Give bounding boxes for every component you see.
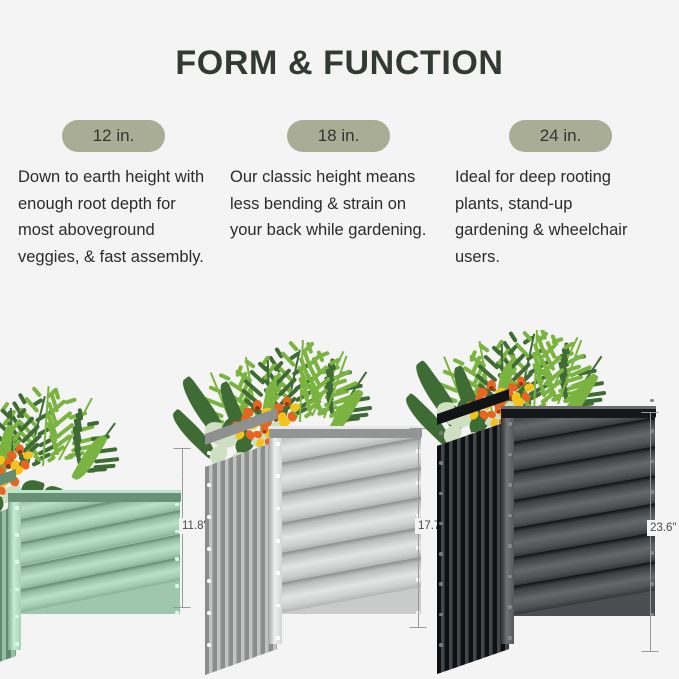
rivet [15, 533, 19, 537]
planter-corner-post [501, 414, 514, 644]
rivet [439, 492, 443, 496]
planter-side-rim [205, 408, 277, 445]
description-18in: Our classic height means less bending & … [230, 164, 430, 244]
rivet [207, 515, 211, 519]
rivet [207, 547, 211, 551]
rivet [207, 579, 211, 583]
rivet [508, 605, 512, 609]
planter-side-rim [437, 389, 509, 425]
rivet [439, 431, 443, 435]
product-scene: 11.8" tall 17.7" tall 23.6" tall [0, 330, 679, 679]
rivet [15, 560, 19, 564]
rivet [439, 461, 443, 465]
rivet [508, 514, 512, 518]
rivet [439, 522, 443, 526]
product-infographic: FORM & FUNCTION 12 in. 18 in. 24 in. Dow… [0, 0, 679, 679]
dimension-callout-24in: 23.6" tall [622, 412, 678, 652]
rivet [15, 615, 19, 619]
rivet [175, 611, 179, 615]
rivet [207, 483, 211, 487]
rivet [15, 506, 19, 510]
rivet [276, 636, 280, 640]
rivet [207, 643, 211, 647]
dimension-label-24in: 23.6" tall [647, 520, 679, 536]
rivet [439, 643, 443, 647]
rivet [15, 588, 19, 592]
page-title: FORM & FUNCTION [0, 44, 679, 83]
description-12in: Down to earth height with enough root de… [18, 164, 208, 270]
rivet [508, 483, 512, 487]
rivet [439, 552, 443, 556]
rivet [207, 611, 211, 615]
rivet [276, 442, 280, 446]
rivet [207, 451, 211, 455]
rivet [276, 539, 280, 543]
rivet [508, 636, 512, 640]
size-badge-18in: 18 in. [287, 120, 390, 152]
rivet [276, 604, 280, 608]
rivet [508, 453, 512, 457]
rivet [439, 613, 443, 617]
rivet [650, 399, 654, 403]
size-badge-row: 12 in. 18 in. 24 in. [0, 120, 679, 154]
charcoal-planter [437, 330, 652, 675]
rivet [276, 474, 280, 478]
size-badge-12in: 12 in. [62, 120, 165, 152]
size-badge-24in: 24 in. [509, 120, 612, 152]
rivet [439, 582, 443, 586]
rivet [416, 417, 420, 421]
rivet [508, 422, 512, 426]
rivet [276, 571, 280, 575]
planter-corner-post [8, 498, 21, 650]
rivet [276, 507, 280, 511]
planter-rim-highlight [501, 406, 657, 409]
planter-side-panel [205, 441, 277, 675]
description-24in: Ideal for deep rooting plants, stand-up … [455, 164, 650, 270]
dimension-callout-12in: 11.8" tall [152, 448, 212, 608]
rivet [15, 642, 19, 646]
planter-side-panel [437, 421, 509, 674]
rivet [508, 544, 512, 548]
